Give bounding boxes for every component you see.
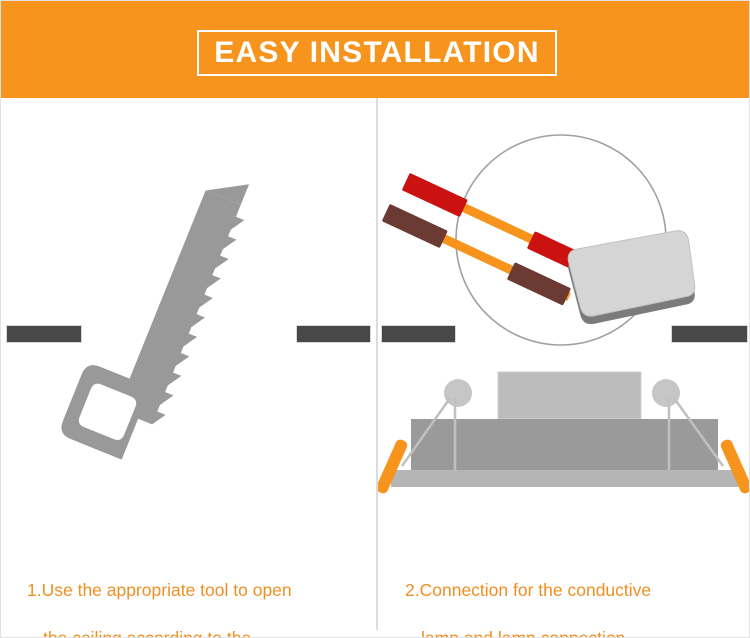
step-2-line-1: 2.Connection for the conductive [405,578,747,602]
handsaw-icon [1,98,376,528]
step-2-number: 2. [405,580,420,600]
page-title: EASY INSTALLATION [214,38,539,68]
step-2-text-2: lamp and lamp connection, [405,626,747,638]
step-2-illustration [378,98,750,528]
title-box: EASY INSTALLATION [197,30,557,76]
fixture-housing [411,419,718,470]
step-1-text-1: Use the appropriate tool to open [42,580,292,600]
header-banner: EASY INSTALLATION [1,1,750,98]
step-2-caption: 2.Connection for the conductive lamp and… [405,530,747,638]
easy-installation-infographic: EASY INSTALLATION [0,0,750,638]
downlight-fixture [378,98,750,528]
step-1-number: 1. [27,580,42,600]
step-2-text-1: Connection for the conductive [420,580,652,600]
step-1-panel: 1.Use the appropriate tool to open the c… [1,98,376,638]
step-1-caption: 1.Use the appropriate tool to open the c… [27,530,367,638]
step-1-line-1: 1.Use the appropriate tool to open [27,578,367,602]
steps-area: 1.Use the appropriate tool to open the c… [1,98,750,638]
fixture-trim-flange [391,470,738,487]
fixture-driver-box [498,372,641,419]
step-2-panel: 2.Connection for the conductive lamp and… [378,98,750,638]
spring-pivot-left [444,379,472,407]
spring-pivot-right [652,379,680,407]
step-1-text-2: the ceiling according to the [27,626,367,638]
step-1-illustration [1,98,376,528]
